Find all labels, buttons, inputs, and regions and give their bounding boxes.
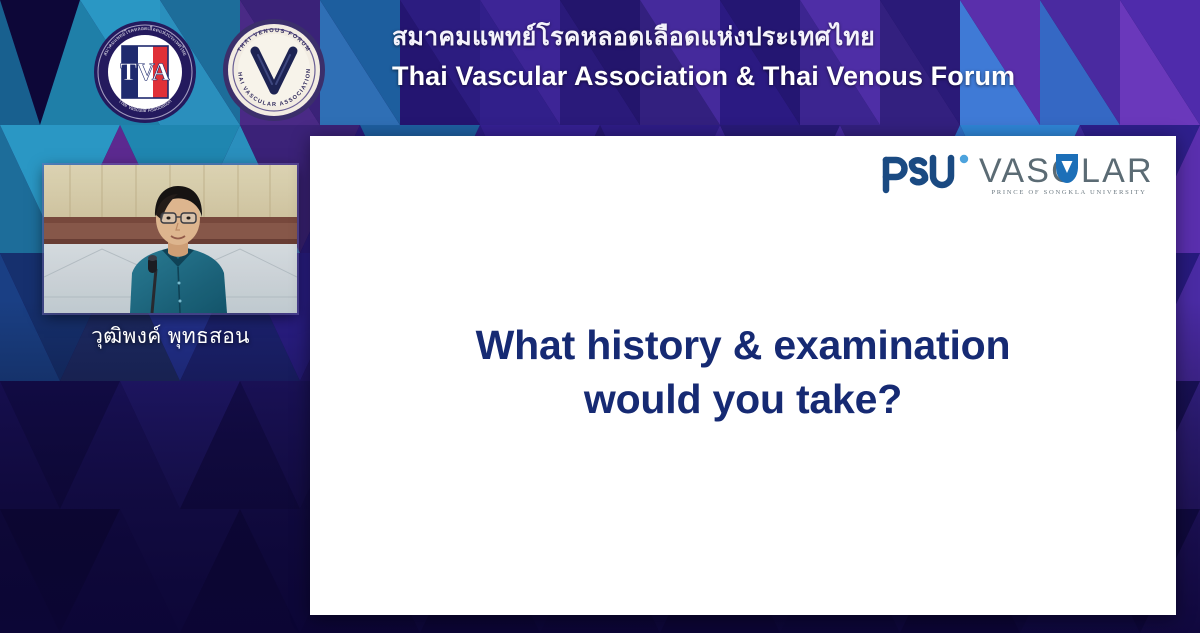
speaker-video-tile[interactable] xyxy=(44,165,297,313)
svg-text:LAR: LAR xyxy=(1081,152,1154,190)
slide-title-line-1: What history & examination xyxy=(350,318,1136,372)
psu-subtitle: PRINCE OF SONGKLA UNIVERSITY xyxy=(991,189,1146,196)
presentation-slide[interactable]: VASC LAR PRINCE OF SONGKLA UNIVERSITY Wh… xyxy=(310,136,1176,615)
slide-title: What history & examination would you tak… xyxy=(310,318,1176,426)
speaker-video-frame xyxy=(44,165,297,313)
presentation-stage: สมาคมแพทย์โรคหลอดเลือดแห่งประเทศไทย Thai… xyxy=(0,0,1200,633)
slide-title-line-2: would you take? xyxy=(350,372,1136,426)
speaker-name-label: วุฒิพงค์ พุทธสอน xyxy=(44,320,297,353)
psu-vascular-logo: VASC LAR PRINCE OF SONGKLA UNIVERSITY xyxy=(876,144,1158,198)
